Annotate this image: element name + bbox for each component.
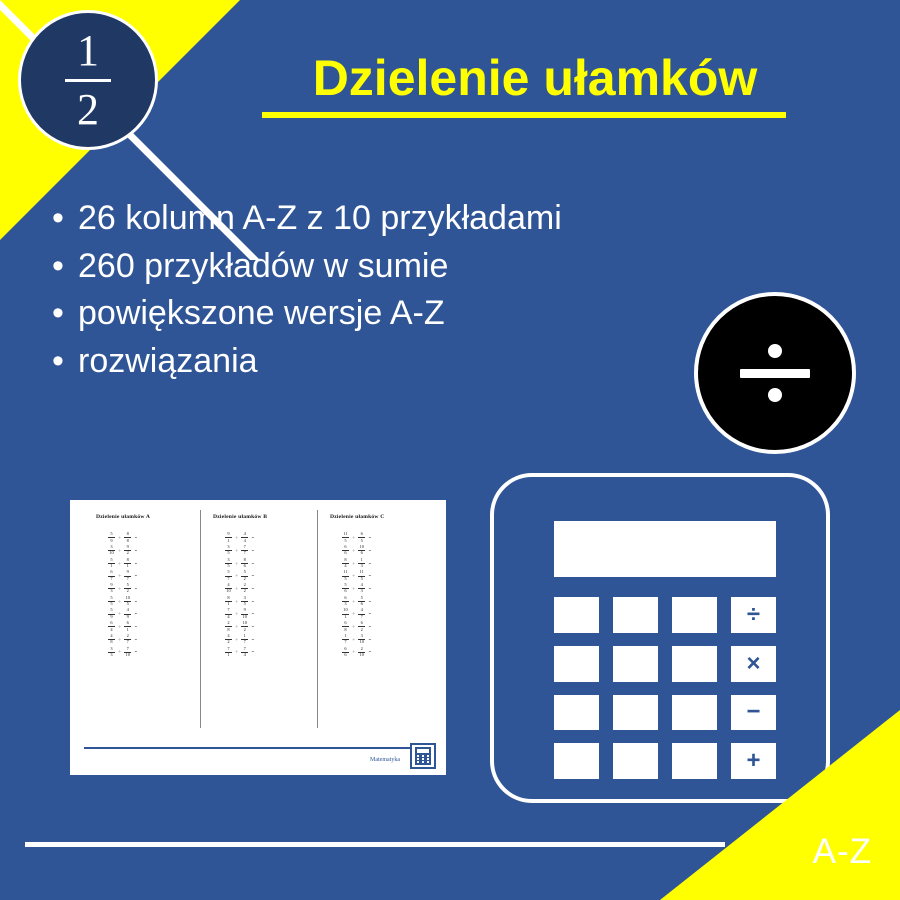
fraction-denominator: 6 <box>361 602 363 606</box>
fraction-right: 310 <box>358 634 365 645</box>
fraction-denominator: 3 <box>361 589 363 593</box>
worksheet-preview: Dzielenie ułamków A 59÷88=310÷92=51÷81=6… <box>63 500 446 775</box>
worksheet-problem: 71÷74= <box>225 647 311 657</box>
fraction-right: 52 <box>241 570 248 581</box>
fraction-denominator: 5 <box>227 564 229 568</box>
divide-icon-bottom-dot <box>768 388 782 402</box>
fraction-numerator: 5 <box>110 596 112 600</box>
fraction-denominator: 8 <box>110 640 112 644</box>
fraction-numerator: 6 <box>361 621 363 625</box>
list-item-label: 26 kolumn A-Z z 10 przykładami <box>78 196 578 242</box>
fraction-numerator: 4 <box>361 583 363 587</box>
fraction-left: 66 <box>342 647 349 658</box>
calculator-number-key <box>613 695 658 731</box>
fraction-numerator: 4 <box>361 608 363 612</box>
fraction-left: 51 <box>108 558 115 569</box>
divide-operator: ÷ <box>118 599 120 604</box>
worksheet-column-title: Dzielenie ułamków B <box>213 514 311 520</box>
fraction-denominator: 1 <box>344 615 346 619</box>
bullet-dot-icon: • <box>38 339 78 385</box>
calculator-plus-key: + <box>731 743 776 779</box>
fraction-denominator: 4 <box>344 564 346 568</box>
fraction-numerator: 3 <box>361 634 363 638</box>
fraction-right: 102 <box>241 621 248 632</box>
divide-operator: ÷ <box>352 586 354 591</box>
fraction-numerator: 9 <box>227 532 229 536</box>
fraction-left: 28 <box>225 621 232 632</box>
divide-operator: ÷ <box>235 535 237 540</box>
calculator-number-key <box>554 743 599 779</box>
divide-operator: ÷ <box>235 624 237 629</box>
fraction-left: 64 <box>108 621 115 632</box>
worksheet-column-a: Dzielenie ułamków A 59÷88=310÷92=51÷81=6… <box>84 510 200 728</box>
fraction-right: 62 <box>358 621 365 632</box>
worksheet-problem: 35÷86= <box>225 558 311 568</box>
worksheet-problem: 33÷710= <box>108 647 194 657</box>
fraction-denominator: 10 <box>243 615 247 619</box>
worksheet-problem: 410÷22= <box>225 584 311 594</box>
equals-operator: = <box>252 637 254 642</box>
worksheet-problem: 66÷106= <box>342 546 428 556</box>
fraction-right: 710 <box>124 647 131 658</box>
fraction-numerator: 9 <box>127 570 129 574</box>
fraction-numerator: 10 <box>126 596 130 600</box>
divide-icon <box>740 342 810 404</box>
fraction-numerator: 8 <box>227 596 229 600</box>
fraction-right: 105 <box>124 596 131 607</box>
fraction-denominator: 9 <box>110 615 112 619</box>
equals-operator: = <box>369 535 371 540</box>
fraction-numerator: 3 <box>227 545 229 549</box>
fraction-numerator: 9 <box>127 545 129 549</box>
fraction-numerator: 10 <box>343 608 347 612</box>
fraction-numerator: 1 <box>361 558 363 562</box>
fraction-denominator: 2 <box>127 589 129 593</box>
equals-operator: = <box>135 599 137 604</box>
calculator-number-key <box>672 597 717 633</box>
fraction-numerator: 6 <box>361 532 363 536</box>
fraction-left: 55 <box>108 596 115 607</box>
fraction-numerator: 2 <box>127 634 129 638</box>
fraction-numerator: 9 <box>110 583 112 587</box>
worksheet-problem: 81÷35= <box>225 596 311 606</box>
fraction-denominator: 10 <box>126 653 130 657</box>
fraction-denominator: 1 <box>227 653 229 657</box>
fraction-denominator: 6 <box>344 653 346 657</box>
fraction-numerator: 7 <box>227 647 229 651</box>
fraction-denominator: 4 <box>244 539 246 543</box>
fraction-numerator: 6 <box>344 596 346 600</box>
fraction-left: 115 <box>342 532 349 543</box>
fraction-right: 115 <box>358 570 365 581</box>
fraction-denominator: 10 <box>226 589 230 593</box>
fraction-numerator: 4 <box>110 634 112 638</box>
divide-operator: ÷ <box>235 561 237 566</box>
divide-operator: ÷ <box>118 611 120 616</box>
fraction-badge-denominator: 2 <box>77 85 99 132</box>
fraction-numerator: 3 <box>110 647 112 651</box>
worksheet-column-b: Dzielenie ułamków B 91÷44=35÷77=35÷86=57… <box>200 510 317 728</box>
worksheet-footer-label: Matematyka <box>370 757 400 763</box>
fraction-left: 59 <box>108 532 115 543</box>
equals-operator: = <box>135 535 137 540</box>
fraction-numerator: 5 <box>361 596 363 600</box>
equals-operator: = <box>135 561 137 566</box>
fraction-left: 63 <box>342 596 349 607</box>
worksheet-problem: 55÷105= <box>108 596 194 606</box>
worksheet-problem: 35÷77= <box>225 546 311 556</box>
problem-list: 91÷44=35÷77=35÷86=57÷52=410÷22=81÷35=74÷… <box>225 533 311 657</box>
fraction-right: 13 <box>358 558 365 569</box>
fraction-left: 91 <box>225 532 232 543</box>
fraction-denominator: 6 <box>344 589 346 593</box>
fraction-numerator: 4 <box>227 634 229 638</box>
calculator-number-key <box>554 646 599 682</box>
fraction-denominator: 3 <box>344 602 346 606</box>
fraction-denominator: 2 <box>244 577 246 581</box>
equals-operator: = <box>135 548 137 553</box>
fraction-numerator: 8 <box>127 558 129 562</box>
fraction-left: 74 <box>225 608 232 619</box>
fraction-denominator: 7 <box>127 577 129 581</box>
fraction-numerator: 4 <box>227 583 229 587</box>
list-item-label: 260 przykładów w sumie <box>78 244 578 290</box>
bullet-dot-icon: • <box>38 244 78 290</box>
fraction-denominator: 5 <box>344 539 346 543</box>
fraction-numerator: 10 <box>243 621 247 625</box>
fraction-denominator: 5 <box>344 577 346 581</box>
fraction-denominator: 4 <box>227 615 229 619</box>
fraction-denominator: 8 <box>344 628 346 632</box>
worksheet-problem: 310÷92= <box>108 546 194 556</box>
divide-operator: ÷ <box>235 586 237 591</box>
fraction-badge-value: 1 2 <box>65 29 111 132</box>
calculator-keypad: ÷ × − + <box>554 597 776 779</box>
fraction-denominator: 1 <box>127 564 129 568</box>
divide-operator: ÷ <box>352 611 354 616</box>
list-item-label: rozwiązania <box>78 339 578 385</box>
calculator-number-key <box>672 646 717 682</box>
fraction-left: 33 <box>108 647 115 658</box>
divide-operator: ÷ <box>118 548 120 553</box>
fraction-left: 410 <box>225 583 232 594</box>
poster-canvas: 1 2 Dzielenie ułamków • 26 kolumn A-Z z … <box>0 0 900 900</box>
divide-operator: ÷ <box>352 599 354 604</box>
bullet-dot-icon: • <box>38 291 78 337</box>
worksheet-problem: 66÷210= <box>342 647 428 657</box>
fraction-denominator: 9 <box>110 539 112 543</box>
fraction-denominator: 7 <box>244 551 246 555</box>
worksheet-problem: 48÷27= <box>108 635 194 645</box>
fraction-numerator: 8 <box>344 558 346 562</box>
divide-operator: ÷ <box>118 649 120 654</box>
fraction-numerator: 5 <box>227 570 229 574</box>
fraction-numerator: 1 <box>344 634 346 638</box>
divide-operator: ÷ <box>352 649 354 654</box>
list-item: • rozwiązania <box>38 339 578 385</box>
fraction-denominator: 5 <box>361 577 363 581</box>
list-item: • powiększone wersje A-Z <box>38 291 578 337</box>
fraction-right: 61 <box>124 621 131 632</box>
fraction-left: 17 <box>342 634 349 645</box>
fraction-right: 35 <box>241 596 248 607</box>
fraction-denominator: 5 <box>110 602 112 606</box>
equals-operator: = <box>369 624 371 629</box>
fraction-denominator: 2 <box>244 628 246 632</box>
equals-operator: = <box>369 649 371 654</box>
divide-operator: ÷ <box>118 637 120 642</box>
problem-list: 115÷65=66÷106=84÷13=115÷115=56÷43=63÷56=… <box>342 533 428 657</box>
fraction-left: 57 <box>225 570 232 581</box>
divide-operator: ÷ <box>235 637 237 642</box>
fraction-numerator: 7 <box>127 647 129 651</box>
fraction-numerator: 8 <box>244 558 246 562</box>
fraction-right: 47 <box>358 608 365 619</box>
worksheet-column-c: Dzielenie ułamków C 115÷65=66÷106=84÷13=… <box>317 510 434 728</box>
equals-operator: = <box>369 611 371 616</box>
fraction-right: 106 <box>358 545 365 556</box>
fraction-left: 48 <box>108 634 115 645</box>
fraction-left: 68 <box>342 621 349 632</box>
calculator-illustration: ÷ × − + <box>490 473 830 803</box>
fraction-denominator: 1 <box>227 539 229 543</box>
fraction-right: 77 <box>241 545 248 556</box>
fraction-left: 81 <box>225 596 232 607</box>
divide-operator: ÷ <box>352 637 354 642</box>
equals-operator: = <box>252 561 254 566</box>
fraction-denominator: 5 <box>127 602 129 606</box>
fraction-left: 71 <box>225 647 232 658</box>
fraction-numerator: 4 <box>127 608 129 612</box>
divide-operator: ÷ <box>235 573 237 578</box>
worksheet-problem: 57÷52= <box>225 571 311 581</box>
fraction-numerator: 3 <box>227 558 229 562</box>
fraction-left: 35 <box>225 558 232 569</box>
calculator-icon <box>415 747 431 765</box>
equals-operator: = <box>252 573 254 578</box>
fraction-denominator: 6 <box>361 551 363 555</box>
fraction-numerator: 7 <box>244 647 246 651</box>
equals-operator: = <box>252 649 254 654</box>
fraction-right: 210 <box>358 647 365 658</box>
fraction-right: 27 <box>124 634 131 645</box>
page-title: Dzielenie ułamków <box>255 52 815 105</box>
fraction-badge: 1 2 <box>18 10 158 150</box>
fraction-right: 86 <box>241 558 248 569</box>
fraction-numerator: 9 <box>244 608 246 612</box>
fraction-denominator: 4 <box>244 653 246 657</box>
divide-operator: ÷ <box>235 649 237 654</box>
divide-operator: ÷ <box>352 561 354 566</box>
divide-operator: ÷ <box>352 548 354 553</box>
equals-operator: = <box>369 637 371 642</box>
worksheet-column-title: Dzielenie ułamków C <box>330 514 428 520</box>
calculator-number-key <box>613 597 658 633</box>
worksheet-problem: 56÷43= <box>342 584 428 594</box>
fraction-left: 310 <box>108 545 115 556</box>
problem-list: 59÷88=310÷92=51÷81=67÷97=93÷52=55÷105=59… <box>108 533 194 657</box>
fraction-denominator: 7 <box>244 640 246 644</box>
worksheet-problem: 115÷65= <box>342 533 428 543</box>
fraction-numerator: 6 <box>127 621 129 625</box>
worksheet-problem: 93÷52= <box>108 584 194 594</box>
divide-operator: ÷ <box>352 535 354 540</box>
fraction-numerator: 7 <box>244 545 246 549</box>
fraction-right: 92 <box>124 545 131 556</box>
fraction-denominator: 5 <box>227 551 229 555</box>
bottom-divider <box>25 842 725 847</box>
worksheet-problem: 115÷115= <box>342 571 428 581</box>
bullet-dot-icon: • <box>38 196 78 242</box>
divide-operator: ÷ <box>118 573 120 578</box>
equals-operator: = <box>135 573 137 578</box>
fraction-left: 42 <box>225 634 232 645</box>
divide-icon-top-dot <box>768 344 782 358</box>
fraction-right: 74 <box>241 647 248 658</box>
worksheet-problem: 28÷102= <box>225 622 311 632</box>
list-item: • 260 przykładów w sumie <box>38 244 578 290</box>
fraction-right: 65 <box>358 532 365 543</box>
worksheet-problem: 59÷88= <box>108 533 194 543</box>
fraction-right: 910 <box>241 608 248 619</box>
fraction-numerator: 5 <box>127 583 129 587</box>
fraction-right: 97 <box>124 570 131 581</box>
fraction-left: 84 <box>342 558 349 569</box>
divide-operator: ÷ <box>235 611 237 616</box>
equals-operator: = <box>252 599 254 604</box>
worksheet-problem: 51÷81= <box>108 558 194 568</box>
fraction-numerator: 6 <box>344 621 346 625</box>
fraction-numerator: 2 <box>361 647 363 651</box>
worksheet-problem: 42÷17= <box>225 635 311 645</box>
fraction-right: 22 <box>241 583 248 594</box>
fraction-denominator: 8 <box>227 628 229 632</box>
divide-operator: ÷ <box>235 548 237 553</box>
equals-operator: = <box>135 649 137 654</box>
fraction-numerator: 6 <box>110 621 112 625</box>
divide-operator: ÷ <box>118 586 120 591</box>
worksheet-problem: 67÷97= <box>108 571 194 581</box>
equals-operator: = <box>252 535 254 540</box>
fraction-denominator: 7 <box>227 577 229 581</box>
fraction-badge-numerator: 1 <box>77 29 99 76</box>
fraction-left: 35 <box>225 545 232 556</box>
worksheet-problem: 91÷44= <box>225 533 311 543</box>
divide-operator: ÷ <box>118 561 120 566</box>
calculator-divide-key: ÷ <box>731 597 776 633</box>
fraction-denominator: 1 <box>127 628 129 632</box>
fraction-numerator: 11 <box>343 532 347 536</box>
fraction-numerator: 5 <box>110 532 112 536</box>
fraction-numerator: 7 <box>227 608 229 612</box>
fraction-numerator: 3 <box>244 596 246 600</box>
calculator-number-key <box>613 646 658 682</box>
az-corner-label: A-Z <box>813 832 872 872</box>
feature-bullet-list: • 26 kolumn A-Z z 10 przykładami • 260 p… <box>38 196 578 386</box>
fraction-numerator: 2 <box>227 621 229 625</box>
calculator-display <box>554 521 776 577</box>
fraction-denominator: 7 <box>110 577 112 581</box>
fraction-numerator: 6 <box>344 545 346 549</box>
divide-operator: ÷ <box>352 573 354 578</box>
fraction-left: 66 <box>342 545 349 556</box>
equals-operator: = <box>135 611 137 616</box>
divide-operator: ÷ <box>235 599 237 604</box>
equals-operator: = <box>252 611 254 616</box>
worksheet-column-title: Dzielenie ułamków A <box>96 514 194 520</box>
fraction-numerator: 11 <box>343 570 347 574</box>
fraction-right: 44 <box>241 532 248 543</box>
fraction-numerator: 2 <box>244 583 246 587</box>
equals-operator: = <box>135 624 137 629</box>
worksheet-calculator-icon <box>410 743 436 769</box>
fraction-numerator: 5 <box>244 570 246 574</box>
fraction-left: 59 <box>108 608 115 619</box>
divide-icon-bar <box>740 369 810 378</box>
fraction-right: 17 <box>241 634 248 645</box>
divide-symbol-badge <box>694 292 856 454</box>
fraction-denominator: 3 <box>110 653 112 657</box>
worksheet-problem: 84÷13= <box>342 558 428 568</box>
fraction-right: 49 <box>124 608 131 619</box>
fraction-denominator: 1 <box>110 564 112 568</box>
worksheet-problem: 63÷56= <box>342 596 428 606</box>
fraction-numerator: 4 <box>244 532 246 536</box>
list-item-label: powiększone wersje A-Z <box>78 291 578 337</box>
fraction-denominator: 3 <box>361 564 363 568</box>
equals-operator: = <box>369 548 371 553</box>
page-title-underline <box>262 112 786 118</box>
fraction-denominator: 2 <box>227 640 229 644</box>
fraction-denominator: 9 <box>127 615 129 619</box>
fraction-numerator: 6 <box>110 570 112 574</box>
equals-operator: = <box>135 586 137 591</box>
calculator-minus-key: − <box>731 695 776 731</box>
equals-operator: = <box>135 637 137 642</box>
fraction-left: 56 <box>342 583 349 594</box>
divide-operator: ÷ <box>118 535 120 540</box>
fraction-numerator: 11 <box>360 570 364 574</box>
fraction-denominator: 6 <box>244 564 246 568</box>
fraction-numerator: 5 <box>110 608 112 612</box>
calculator-number-key <box>554 597 599 633</box>
fraction-denominator: 7 <box>344 640 346 644</box>
fraction-left: 115 <box>342 570 349 581</box>
fraction-right: 81 <box>124 558 131 569</box>
fraction-denominator: 8 <box>127 539 129 543</box>
divide-operator: ÷ <box>118 624 120 629</box>
worksheet-body: Dzielenie ułamków A 59÷88=310÷92=51÷81=6… <box>70 500 446 775</box>
fraction-numerator: 1 <box>244 634 246 638</box>
calculator-multiply-key: × <box>731 646 776 682</box>
calculator-number-key <box>672 743 717 779</box>
worksheet-problem: 74÷910= <box>225 609 311 619</box>
fraction-numerator: 5 <box>344 583 346 587</box>
fraction-left: 93 <box>108 583 115 594</box>
calculator-number-key <box>613 743 658 779</box>
fraction-numerator: 10 <box>360 545 364 549</box>
equals-operator: = <box>369 586 371 591</box>
fraction-right: 56 <box>358 596 365 607</box>
fraction-numerator: 8 <box>127 532 129 536</box>
calculator-number-key <box>672 695 717 731</box>
worksheet-problem: 68÷62= <box>342 622 428 632</box>
fraction-right: 88 <box>124 532 131 543</box>
fraction-denominator: 1 <box>227 602 229 606</box>
fraction-denominator: 4 <box>110 628 112 632</box>
equals-operator: = <box>369 599 371 604</box>
fraction-left: 67 <box>108 570 115 581</box>
